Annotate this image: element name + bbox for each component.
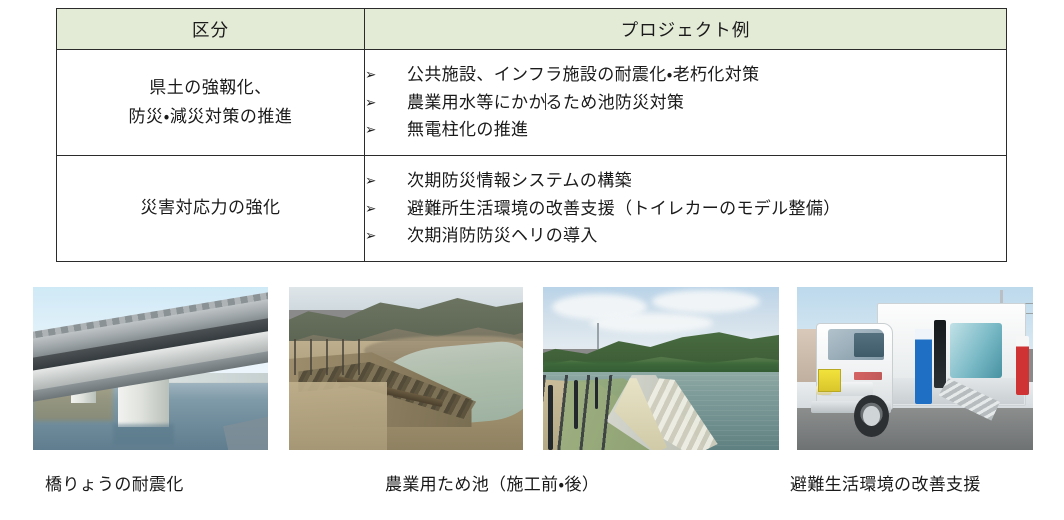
paved-ground <box>797 408 1033 450</box>
arrow-bullet-icon: ➢ <box>365 65 407 87</box>
list-item-label: 次期防災情報システムの構築 <box>407 167 632 195</box>
list-item: ➢ 避難所生活環境の改善支援（トイレカーのモデル整備） <box>365 195 1006 223</box>
dry-grass-foreground <box>289 382 387 450</box>
photo-mobile-toilet-truck <box>797 287 1033 450</box>
wheel-hub <box>863 406 880 426</box>
table-row: 災害対応力の強化 ➢ 次期防災情報システムの構築 ➢ 避難所生活環境の改善支援（… <box>57 156 1007 262</box>
fence-post <box>595 377 598 410</box>
caption-bridge: 橋りょうの耐震化 <box>45 470 184 495</box>
blue-banner-flag <box>915 329 932 404</box>
caption-farm-pond: 農業用ため池（施工前・後） <box>385 470 599 495</box>
category-line: 防災・減災対策の推進 <box>57 103 364 131</box>
toilet-truck-scene <box>797 287 1033 450</box>
list-item: ➢ 次期防災情報システムの構築 <box>365 167 1006 195</box>
list-item-label: 公共施設、インフラ施設の耐震化・老朽化対策 <box>407 61 759 89</box>
arrow-bullet-icon: ➢ <box>365 93 407 115</box>
arrow-bullet-icon: ➢ <box>365 171 407 193</box>
list-item: ➢ 公共施設、インフラ施設の耐震化・老朽化対策 <box>365 61 1006 89</box>
project-examples-table: 区分 プロジェクト例 県土の強靱化、 防災・減災対策の推進 ➢ 公共施設、インフ… <box>56 8 1007 262</box>
project-examples-table-wrapper: 区分 プロジェクト例 県土の強靱化、 防災・減災対策の推進 ➢ 公共施設、インフ… <box>56 8 1007 262</box>
list-item-label-after-caret: るため池防災対策 <box>546 93 685 112</box>
category-cell-resilience: 県土の強靱化、 防災・減災対策の推進 <box>57 50 365 156</box>
yellow-door-placard <box>818 369 841 392</box>
fence-post <box>574 380 578 429</box>
cab-logo <box>854 372 882 380</box>
examples-cell-disaster-response: ➢ 次期防災情報システムの構築 ➢ 避難所生活環境の改善支援（トイレカーのモデル… <box>365 156 1007 262</box>
photo-captions: 橋りょうの耐震化 農業用ため池（施工前・後） 避難生活環境の改善支援 <box>0 470 1064 510</box>
list-item-label: 無電柱化の推進 <box>407 116 528 144</box>
cloud <box>652 290 761 313</box>
cloud <box>590 313 713 333</box>
examples-cell-resilience: ➢ 公共施設、インフラ施設の耐震化・老朽化対策 ➢ 農業用水等にかかるため池防災… <box>365 50 1007 156</box>
pond-after-scene <box>543 287 779 450</box>
photo-farm-pond-after <box>543 287 779 450</box>
fence-post <box>548 385 553 450</box>
table-row: 県土の強靱化、 防災・減災対策の推進 ➢ 公共施設、インフラ施設の耐震化・老朽化… <box>57 50 1007 156</box>
list-item-label: 次期消防防災ヘリの導入 <box>407 222 598 250</box>
red-banner-flag <box>1016 336 1029 395</box>
column-header-category: 区分 <box>57 9 365 50</box>
column-header-examples: プロジェクト例 <box>365 9 1007 50</box>
table-header-row: 区分 プロジェクト例 <box>57 9 1007 50</box>
photo-farm-pond-before <box>289 287 523 450</box>
arrow-bullet-icon: ➢ <box>365 199 407 221</box>
category-cell-disaster-response: 災害対応力の強化 <box>57 156 365 262</box>
list-item: ➢ 無電柱化の推進 <box>365 116 1006 144</box>
list-item-label: 避難所生活環境の改善支援（トイレカーのモデル整備） <box>407 195 841 223</box>
guard-fence <box>543 375 623 450</box>
rear-door-opening <box>934 320 946 388</box>
list-item: ➢ 農業用水等にかかるため池防災対策 <box>365 89 1006 117</box>
bridge-scene <box>33 287 268 450</box>
list-item-label: 農業用水等にかかるため池防災対策 <box>407 89 684 117</box>
cab-door-window <box>854 333 885 357</box>
photo-bridge-seismic-retrofit <box>33 287 268 450</box>
pier-reflection <box>113 424 174 445</box>
list-item-label-before-caret: 農業用水等にかか <box>407 93 546 112</box>
caption-shelter-improvement: 避難生活環境の改善支援 <box>790 470 981 495</box>
body-window-graphic <box>950 323 1002 378</box>
photo-strip <box>0 287 1064 450</box>
fence-posts <box>294 339 364 375</box>
bullet-list: ➢ 公共施設、インフラ施設の耐震化・老朽化対策 ➢ 農業用水等にかかるため池防災… <box>365 61 1006 144</box>
category-line: 災害対応力の強化 <box>57 194 364 222</box>
pond-before-scene <box>289 287 523 450</box>
bullet-list: ➢ 次期防災情報システムの構築 ➢ 避難所生活環境の改善支援（トイレカーのモデル… <box>365 167 1006 250</box>
category-line: 県土の強靱化、 <box>57 74 364 102</box>
list-item: ➢ 次期消防防災ヘリの導入 <box>365 222 1006 250</box>
arrow-bullet-icon: ➢ <box>365 120 407 142</box>
arrow-bullet-icon: ➢ <box>365 226 407 248</box>
